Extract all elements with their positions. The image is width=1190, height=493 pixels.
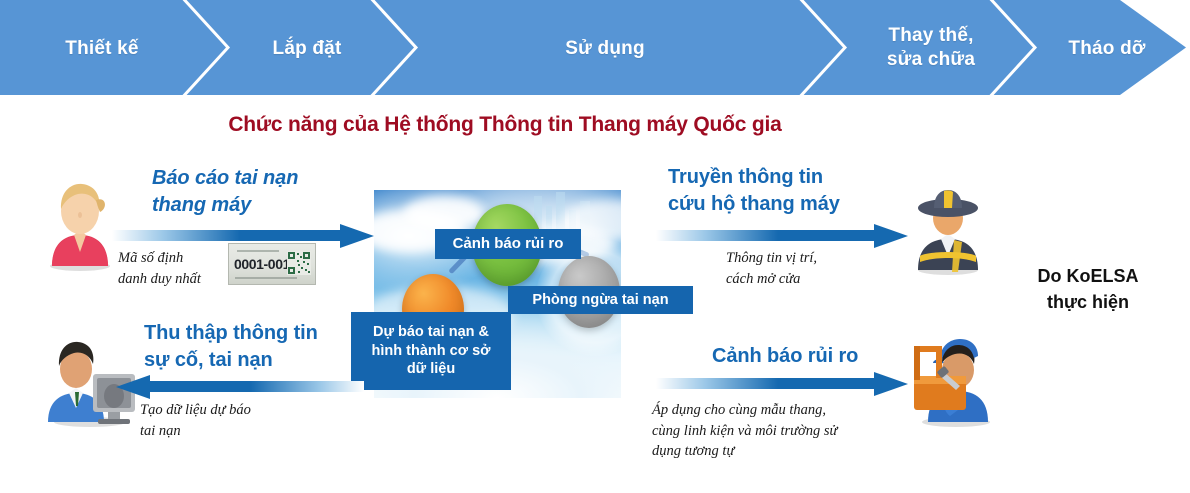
- headline-collect-incident-info-line-1: Thu thập thông tin: [144, 320, 384, 347]
- qr-code-icon: [287, 251, 311, 275]
- headline-rescue-info: Truyền thông tin cứu hộ thang máy: [668, 164, 918, 218]
- headline-rescue-info-line-2: cứu hộ thang máy: [668, 191, 918, 218]
- headline-accident-report-line-2: thang máy: [152, 192, 382, 219]
- id-tag-code: 0001-001: [234, 256, 290, 272]
- caption-unique-id-line-1: Mã số định: [118, 248, 226, 269]
- caption-similar-models: Áp dụng cho cùng mẫu thang, cùng linh ki…: [652, 400, 920, 462]
- arrow-system-to-rescue: [656, 224, 908, 246]
- koelsa-note-line-1: Do KoELSA: [1000, 263, 1176, 289]
- callout-forecast-line-1: Dự báo tai nạn &: [372, 323, 491, 342]
- stage-label-installation: Lắp đặt: [232, 37, 382, 61]
- rescue-worker-icon: [908, 184, 988, 276]
- caption-similar-models-line-1: Áp dụng cho cùng mẫu thang,: [652, 400, 920, 421]
- caption-unique-id: Mã số định danh duy nhất: [118, 248, 226, 289]
- caption-forecast-data-line-1: Tạo dữ liệu dự báo: [140, 400, 340, 421]
- koelsa-note: Do KoELSA thực hiện: [1000, 263, 1176, 315]
- stage-label-replacement-repair: Thay thế, sửa chữa: [856, 24, 1006, 72]
- arrow-system-to-office-worker: [116, 375, 364, 397]
- stage-label-design: Thiết kế: [22, 37, 182, 61]
- technician-icon: [900, 332, 1000, 428]
- caption-location-door-info: Thông tin vị trí, cách mở cửa: [726, 248, 916, 289]
- koelsa-note-line-2: thực hiện: [1000, 289, 1176, 315]
- caption-forecast-data: Tạo dữ liệu dự báo tai nạn: [140, 400, 340, 441]
- caption-similar-models-line-3: dụng tương tự: [652, 441, 920, 462]
- headline-collect-incident-info: Thu thập thông tin sự cố, tai nạn: [144, 320, 384, 374]
- citizen-woman-icon: [44, 178, 116, 272]
- callout-forecast-line-3: dữ liệu: [372, 360, 491, 379]
- callout-accident-prevention: Phòng ngừa tai nạn: [508, 286, 693, 314]
- caption-similar-models-line-2: cùng linh kiện và môi trường sử: [652, 421, 920, 442]
- arrow-system-to-technician: [656, 372, 908, 394]
- page-title: Chức năng của Hệ thống Thông tin Thang m…: [0, 113, 1010, 137]
- headline-rescue-info-line-1: Truyền thông tin: [668, 164, 918, 191]
- headline-collect-incident-info-line-2: sự cố, tai nạn: [144, 347, 384, 374]
- headline-accident-report: Báo cáo tai nạn thang máy: [152, 165, 382, 219]
- stage-label-dismantling: Tháo dỡ: [1042, 37, 1172, 61]
- callout-risk-warning: Cảnh báo rủi ro: [435, 229, 581, 259]
- headline-accident-report-line-1: Báo cáo tai nạn: [152, 165, 382, 192]
- callout-forecast-line-2: hình thành cơ sở: [372, 342, 491, 361]
- stage-label-usage: Sử dụng: [440, 37, 770, 61]
- caption-location-door-info-line-2: cách mở cửa: [726, 269, 916, 290]
- caption-location-door-info-line-1: Thông tin vị trí,: [726, 248, 916, 269]
- caption-forecast-data-line-2: tai nạn: [140, 421, 340, 442]
- caption-unique-id-line-2: danh duy nhất: [118, 269, 226, 290]
- elevator-id-tag: 0001-001: [228, 243, 316, 285]
- lifecycle-banner: Thiết kế Lắp đặt Sử dụng Thay thế, sửa c…: [0, 0, 1190, 95]
